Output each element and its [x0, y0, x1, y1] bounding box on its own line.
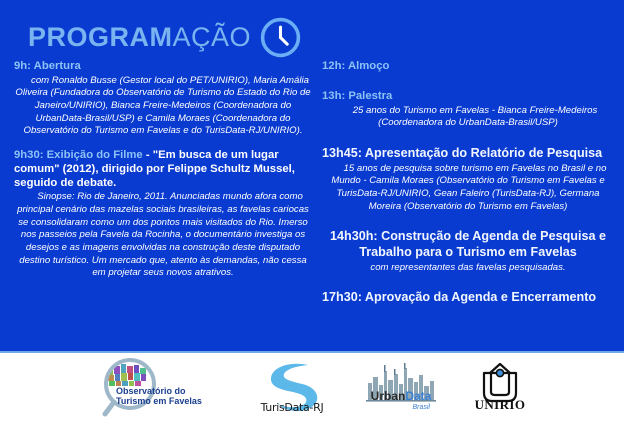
- schedule-item-12h: 12h: Almoço: [322, 60, 614, 74]
- schedule-item-12h-heading: 12h: Almoço: [322, 60, 614, 74]
- schedule-item-9h30-body: Sinopse: Rio de Janeiro, 2011. Anunciada…: [14, 191, 312, 280]
- schedule-item-14h30: 14h30h: Construção de Agenda de Pesquisa…: [322, 229, 614, 274]
- schedule-item-9h-heading: 9h: Abertura: [14, 60, 312, 74]
- schedule-column-right: 12h: Almoço 13h: Palestra 25 anos do Tur…: [322, 60, 614, 317]
- programacao-poster: PROGRAMAÇÃO 9h: Abertura com Ronaldo Bus…: [0, 0, 624, 422]
- logo-urbandata-sub: Brasil: [364, 404, 438, 411]
- logo-urbandata-brasil: UrbanData Brasil: [364, 359, 438, 417]
- page-title-rest: AÇÃO: [173, 22, 252, 52]
- schedule-item-17h30: 17h30: Aprovação da Agenda e Encerrament…: [322, 290, 614, 306]
- footer-logo-bar: Observatório do Turismo em Favelas Turis…: [0, 353, 624, 422]
- logo-urbandata-data: Data: [405, 389, 431, 403]
- logo-observatorio-line1: Observatório do: [116, 386, 202, 396]
- logo-urbandata-text: UrbanData Brasil: [364, 388, 438, 411]
- logo-unirio: UNIRIO: [464, 359, 536, 417]
- page-title-strong: PROGRAM: [28, 22, 173, 52]
- poster-header: PROGRAMAÇÃO: [28, 16, 302, 59]
- schedule-item-9h-body: com Ronaldo Busse (Gestor local do PET/U…: [14, 75, 312, 138]
- schedule-item-14h30-body: com representantes das favelas pesquisad…: [322, 262, 614, 275]
- schedule-column-left: 9h: Abertura com Ronaldo Busse (Gestor l…: [14, 60, 312, 291]
- clock-icon: [259, 16, 302, 59]
- schedule-item-14h30-heading: 14h30h: Construção de Agenda de Pesquisa…: [322, 229, 614, 260]
- schedule-item-13h45-heading: 13h45: Apresentação do Relatório de Pesq…: [322, 146, 614, 162]
- logo-observatorio-text: Observatório do Turismo em Favelas: [116, 386, 202, 407]
- logo-urbandata-urban: Urban: [371, 389, 406, 403]
- schedule-item-13h: 13h: Palestra 25 anos do Turismo em Fave…: [322, 90, 614, 130]
- schedule-item-9h30-heading: 9h30: Exibição do Filme - "Em busca de u…: [14, 149, 312, 190]
- schedule-item-13h-heading: 13h: Palestra: [322, 90, 614, 104]
- schedule-item-9h30: 9h30: Exibição do Filme - "Em busca de u…: [14, 149, 312, 280]
- logo-turisdata-text: TurisData-RJ: [246, 401, 338, 414]
- schedule-item-13h45: 13h45: Apresentação do Relatório de Pesq…: [322, 146, 614, 213]
- schedule-item-9h30-heading-time: 9h30: Exibição do Filme: [14, 149, 146, 161]
- logo-observatorio-turismo-favelas: Observatório do Turismo em Favelas: [88, 357, 220, 419]
- schedule-item-9h: 9h: Abertura com Ronaldo Busse (Gestor l…: [14, 60, 312, 138]
- schedule-item-13h45-body: 15 anos de pesquisa sobre turismo em Fav…: [322, 163, 614, 214]
- schedule-panel: PROGRAMAÇÃO 9h: Abertura com Ronaldo Bus…: [0, 0, 624, 351]
- logo-urbandata-main: UrbanData: [371, 389, 432, 403]
- schedule-item-17h30-heading: 17h30: Aprovação da Agenda e Encerrament…: [322, 290, 614, 306]
- page-title: PROGRAMAÇÃO: [28, 24, 251, 51]
- logo-turisdata-rj: TurisData-RJ: [246, 357, 338, 419]
- logo-unirio-text: UNIRIO: [464, 397, 536, 413]
- logo-observatorio-line2: Turismo em Favelas: [116, 396, 202, 406]
- schedule-item-13h-body: 25 anos do Turismo em Favelas - Bianca F…: [322, 105, 614, 130]
